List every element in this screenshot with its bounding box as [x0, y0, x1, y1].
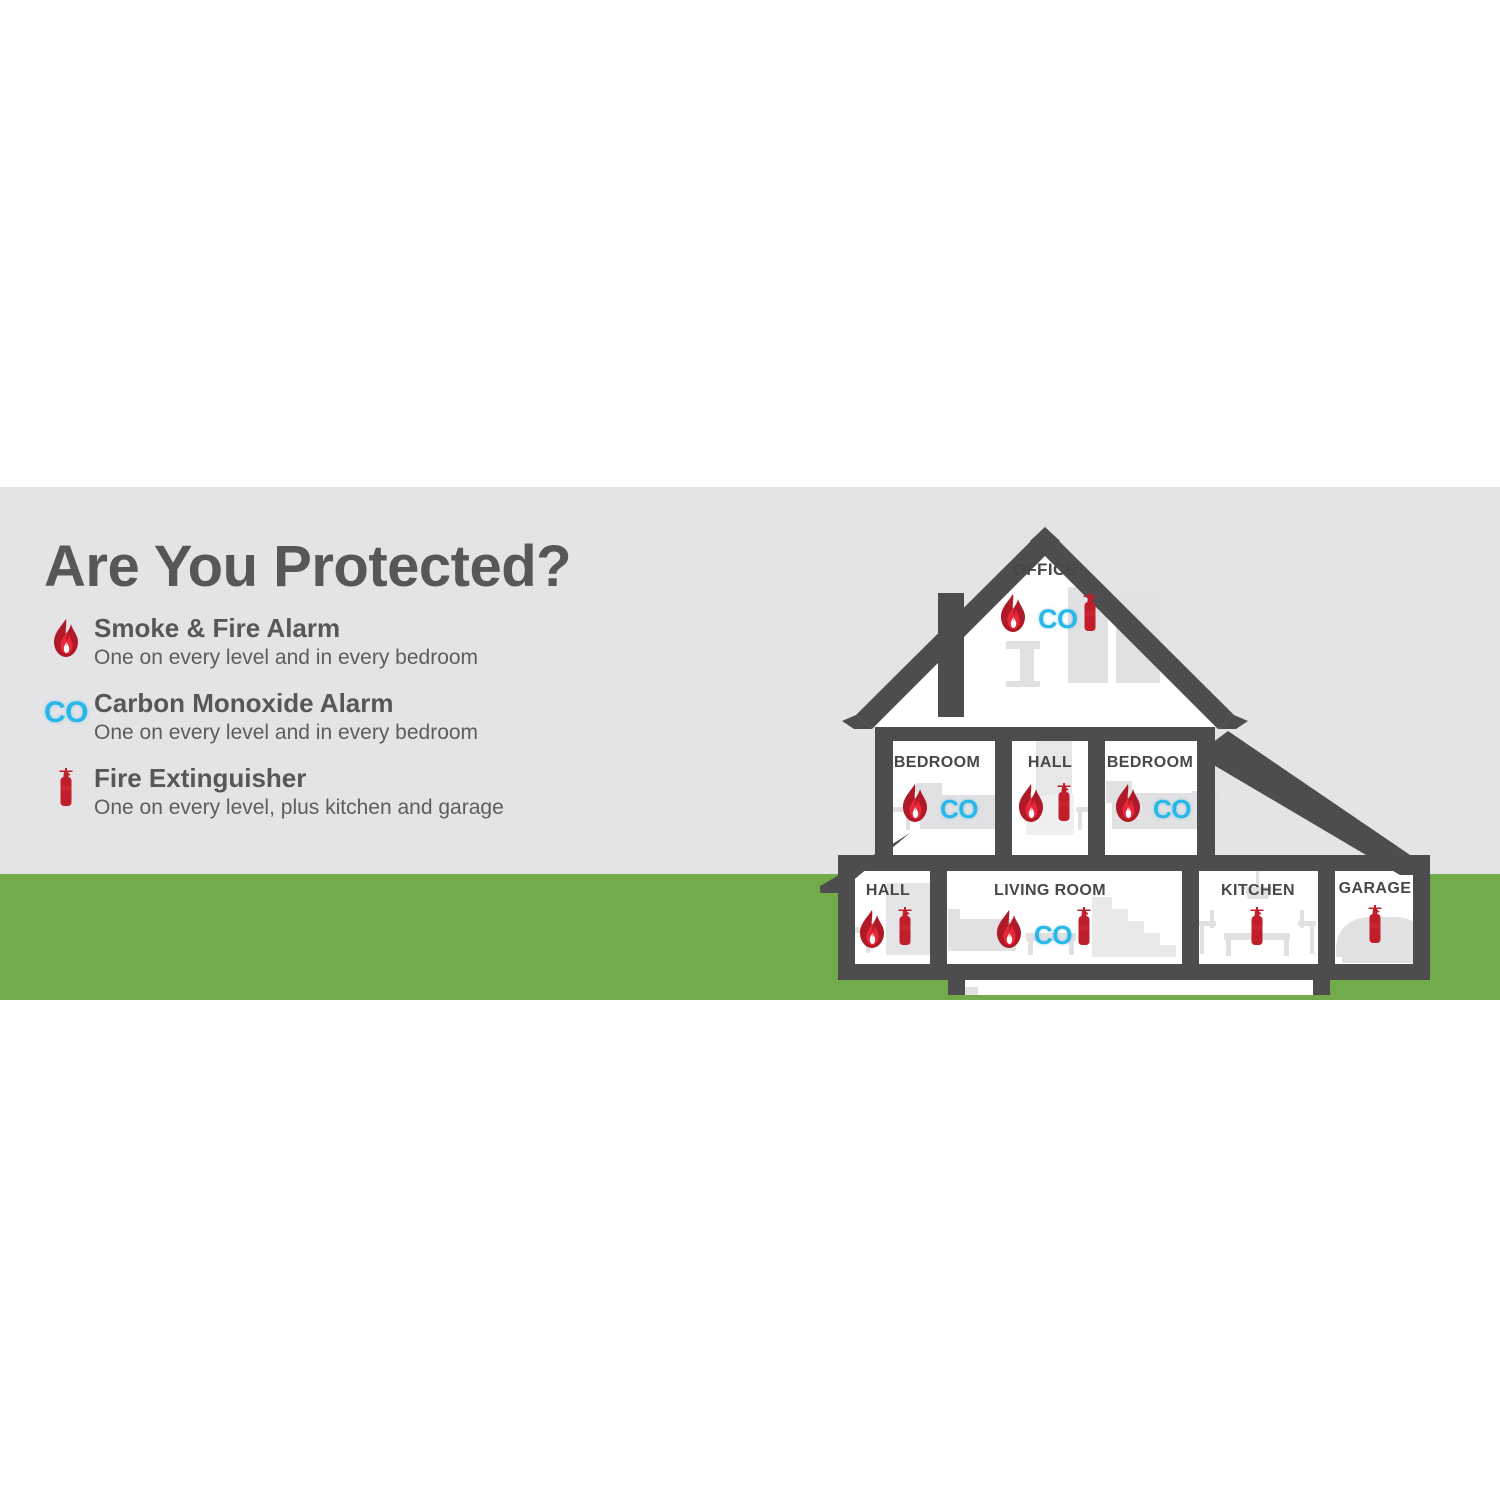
room-label-kitchen: KITCHEN	[1221, 882, 1295, 899]
ground-floor-right-wall	[1413, 855, 1430, 980]
upper-floor-left-wall	[875, 727, 893, 857]
co-glyph: CO	[44, 698, 88, 728]
co-glyph-office: CO	[1038, 604, 1078, 634]
fire-extinguisher-icon	[44, 766, 88, 810]
partition-kitchen-garage	[1318, 871, 1335, 964]
flame-icon	[44, 616, 88, 660]
legend-panel: Are You Protected? Smoke & Fire Alarm On…	[44, 537, 744, 839]
legend-item-title: Carbon Monoxide Alarm	[94, 689, 744, 719]
co-glyph-living-room: CO	[1034, 920, 1072, 950]
room-label-garage: GARAGE	[1339, 880, 1412, 897]
room-label-living-room: LIVING ROOM	[994, 882, 1106, 899]
co-glyph-bedroom-right: CO	[1153, 794, 1191, 824]
co-icon: CO	[44, 691, 88, 735]
room-label-bedroom-right: BEDROOM	[1107, 754, 1193, 771]
ground-floor-slab	[838, 964, 1430, 980]
page-title: Are You Protected?	[44, 537, 744, 596]
legend-item-subtitle: One on every level, plus kitchen and gar…	[94, 795, 744, 820]
legend-item-smoke-fire-alarm: Smoke & Fire Alarm One on every level an…	[44, 614, 744, 670]
legend-item-carbon-monoxide-alarm: CO Carbon Monoxide Alarm One on every le…	[44, 689, 744, 745]
roof-right-lower-slope	[1200, 731, 1416, 875]
room-label-bedroom-left: BEDROOM	[894, 754, 980, 771]
room-label-office: OFFICE	[1013, 560, 1078, 579]
ground-floor-left-wall	[838, 855, 855, 980]
legend-item-subtitle: One on every level and in every bedroom	[94, 645, 744, 670]
basement-right-wall	[1313, 980, 1330, 995]
partition-living-kitchen	[1182, 871, 1199, 964]
house-cutaway-diagram: OFFICE CO BEDROOM CO HALL BEDROOM CO HAL…	[820, 495, 1460, 995]
upper-floor-ceiling	[875, 727, 1215, 741]
partition-hall-bedroom	[1088, 741, 1105, 857]
partition-bedroom-hall	[995, 741, 1012, 857]
infographic-banner: Are You Protected? Smoke & Fire Alarm On…	[0, 487, 1500, 1000]
co-glyph-bedroom-left: CO	[940, 794, 978, 824]
room-label-hall-lower: HALL	[866, 882, 910, 899]
partition-hall-living	[930, 871, 947, 964]
room-label-hall-upper: HALL	[1028, 754, 1072, 771]
basement-left-wall	[948, 980, 965, 995]
legend-item-title: Fire Extinguisher	[94, 764, 744, 794]
room-body-basement	[948, 980, 1330, 995]
legend-item-fire-extinguisher: Fire Extinguisher One on every level, pl…	[44, 764, 744, 820]
legend-item-title: Smoke & Fire Alarm	[94, 614, 744, 644]
ground-floor-ceiling	[838, 855, 1430, 871]
legend-item-subtitle: One on every level and in every bedroom	[94, 720, 744, 745]
